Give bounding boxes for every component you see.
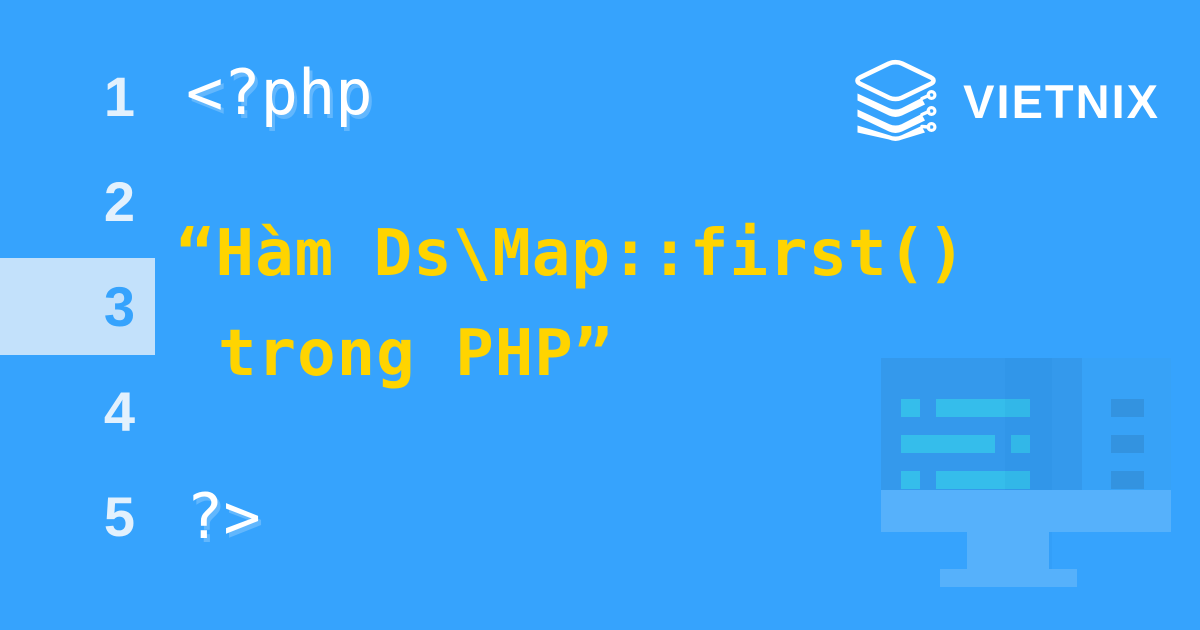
line-number: 1 bbox=[104, 69, 155, 125]
page-title-line-1: “Hàm Ds\Map::first() bbox=[176, 222, 967, 286]
line-number: 2 bbox=[104, 174, 155, 230]
line-number-row[interactable]: 3 bbox=[0, 258, 155, 355]
php-open-tag: <?php bbox=[186, 62, 373, 124]
line-number-row[interactable]: 4 bbox=[0, 363, 155, 460]
line-number: 5 bbox=[104, 489, 155, 545]
social-card: VIETNIX 12345 <?php “Hàm Ds\Map::first()… bbox=[0, 0, 1200, 630]
editor-gutter: 12345 bbox=[0, 0, 155, 630]
line-number: 3 bbox=[104, 279, 155, 335]
editor-content: <?php “Hàm Ds\Map::first() trong PHP” ?> bbox=[168, 0, 1200, 630]
line-number: 4 bbox=[104, 384, 155, 440]
page-title-line-2: trong PHP” bbox=[218, 322, 613, 386]
php-close-tag: ?> bbox=[186, 486, 261, 548]
line-number-row[interactable]: 2 bbox=[0, 153, 155, 250]
line-number-row[interactable]: 5 bbox=[0, 468, 155, 565]
line-number-row[interactable]: 1 bbox=[0, 48, 155, 145]
